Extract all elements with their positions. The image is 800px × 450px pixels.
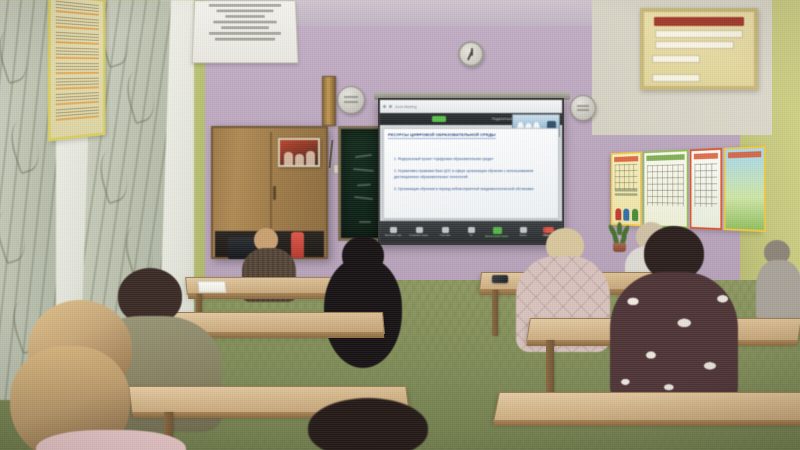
chat-bubble-icon	[468, 227, 475, 233]
slide-title: РЕСУРСЫ ЦИФРОВОЙ ОБРАЗОВАТЕЛЬНОЙ СРЕДЫ	[388, 132, 496, 139]
wall-lamp	[322, 76, 336, 126]
stop-video-button[interactable]: Остановить видео	[411, 227, 428, 237]
projection-screen: Zoom Meeting Поделиться Войти Вид РЕСУРС…	[378, 98, 564, 245]
framed-picture	[278, 138, 320, 167]
share-screen-button-label: Демонстрация экрана	[486, 235, 509, 238]
window-dot-icon	[389, 105, 392, 108]
attendee-mid-longdark	[318, 236, 404, 372]
stop-video-button-label: Остановить видео	[409, 234, 428, 237]
recording-indicator-icon	[432, 116, 446, 122]
attendee-front-blonde	[0, 300, 190, 450]
zoom-application: Zoom Meeting Поделиться Войти Вид РЕСУРС…	[380, 100, 562, 243]
board-calendar	[690, 148, 722, 230]
slide-bullet: 2. Нормативно-правовая база ЦОС в сфере …	[394, 169, 550, 180]
zoom-titlebar-text: Zoom Meeting	[395, 105, 417, 109]
people-icon	[442, 227, 449, 233]
board-landscape	[724, 146, 766, 232]
attendee-far-right-grey	[756, 240, 800, 320]
attendee-front-right-dark	[286, 398, 476, 450]
slide-bullet: 1. Федеральный проект «Цифровая образова…	[394, 157, 550, 162]
poster-ceiling-chart	[192, 0, 299, 63]
camera-icon	[416, 227, 423, 233]
right-speaker	[570, 95, 596, 121]
poster-right-framed	[640, 8, 758, 90]
desk-front-right	[493, 392, 800, 422]
left-speaker	[337, 86, 365, 114]
share-screen-button[interactable]: Демонстрация экрана	[489, 227, 506, 238]
chat-button-label: Чат	[469, 234, 473, 237]
cabinet-handle[interactable]	[273, 186, 276, 200]
desk-leg	[492, 290, 498, 336]
chat-button[interactable]: Чат	[463, 227, 480, 237]
window-dot-icon	[383, 105, 386, 108]
participants-button-label: Участники	[440, 234, 451, 237]
board-table	[643, 149, 688, 228]
board-alphabet	[611, 152, 642, 227]
microphone-icon	[390, 227, 397, 233]
zoom-titlebar: Zoom Meeting	[380, 100, 562, 113]
slide-body: 1. Федеральный проект «Цифровая образова…	[394, 157, 550, 199]
participants-button[interactable]: Участники	[437, 227, 454, 237]
presentation-slide: РЕСУРСЫ ЦИФРОВОЙ ОБРАЗОВАТЕЛЬНОЙ СРЕДЫ 1…	[383, 128, 559, 219]
poster-left-tall	[48, 0, 106, 141]
slide-bullet: 3. Организация обучения в период неблаго…	[394, 187, 550, 192]
meeting-center-label: Поделиться	[492, 117, 513, 121]
attendee-right-camo	[610, 226, 738, 402]
wall-board-cluster	[611, 146, 764, 232]
classroom-scene: Zoom Meeting Поделиться Войти Вид РЕСУРС…	[0, 0, 800, 450]
wall-clock	[458, 41, 484, 67]
mobile-phone[interactable]	[492, 275, 508, 283]
share-screen-icon	[493, 227, 502, 234]
